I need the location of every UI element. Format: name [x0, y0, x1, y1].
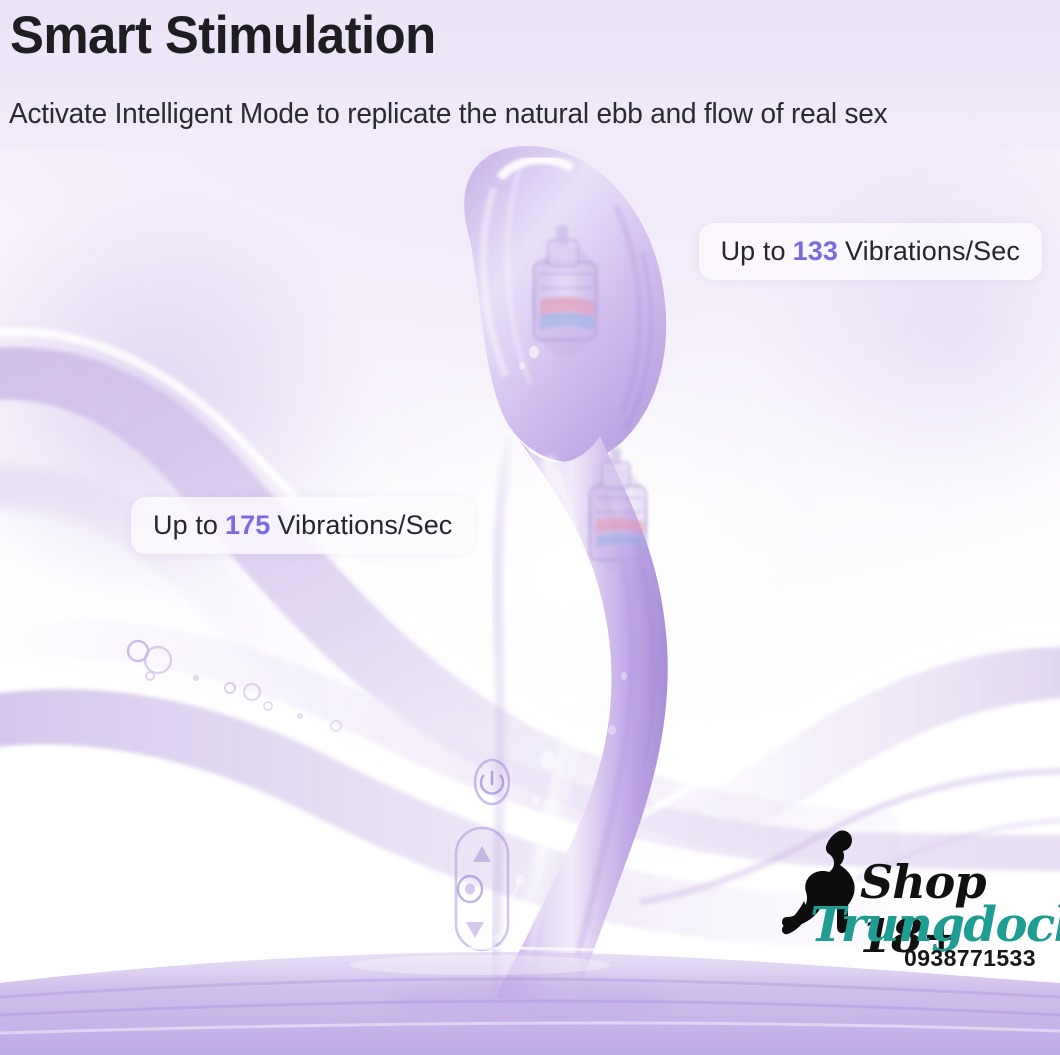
- promo-banner: Smart Stimulation Activate Intelligent M…: [0, 0, 1060, 1055]
- badge-suffix: Vibrations/Sec: [845, 236, 1020, 267]
- vibration-badge-top: Up to 133 Vibrations/Sec: [699, 223, 1042, 280]
- watermark-phone: 0938771533: [904, 945, 1036, 972]
- page-title: Smart Stimulation: [10, 9, 436, 62]
- badge-value: 175: [218, 510, 277, 541]
- badge-value: 133: [786, 236, 845, 267]
- power-button[interactable]: [475, 760, 509, 804]
- badge-prefix: Up to: [153, 510, 218, 541]
- mode-button: [458, 876, 482, 902]
- badge-suffix: Vibrations/Sec: [277, 510, 452, 541]
- badge-prefix: Up to: [721, 236, 786, 267]
- shop-watermark: Shop 18+ Trungdochoi 0938771533: [782, 827, 1050, 992]
- intensity-up-button: [473, 846, 491, 862]
- vibration-badge-bottom: Up to 175 Vibrations/Sec: [131, 497, 474, 554]
- page-subtitle: Activate Intelligent Mode to replicate t…: [9, 98, 887, 131]
